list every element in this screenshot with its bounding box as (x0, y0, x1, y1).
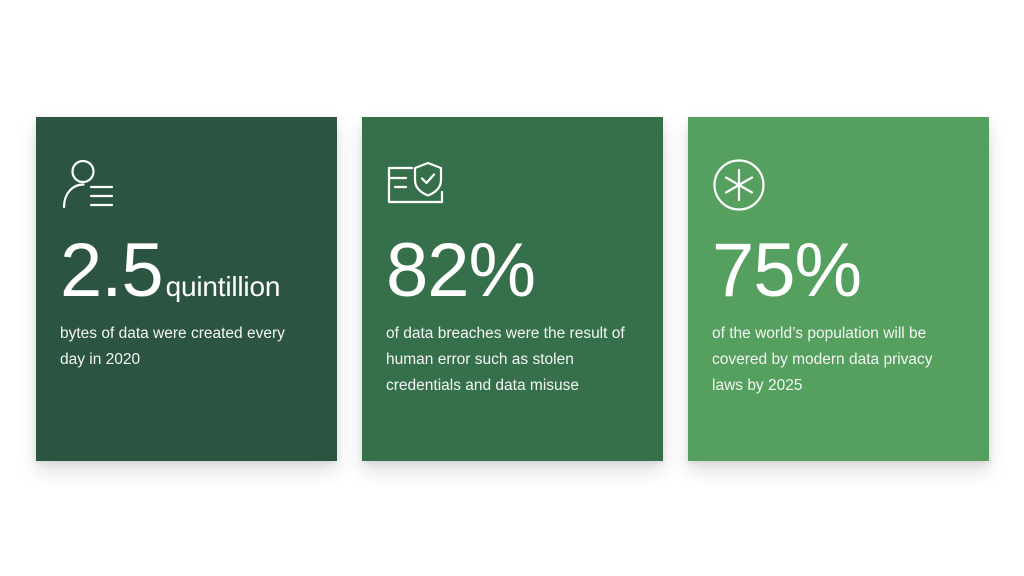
stat-card-privacy-laws: 75% of the world’s population will be co… (688, 117, 989, 461)
stat-card-quintillion-bytes: 2.5 quintillion bytes of data were creat… (36, 117, 337, 461)
asterisk-circle-icon (712, 157, 965, 213)
user-details-icon (60, 157, 313, 213)
stat-description: of the world’s population will be covere… (712, 321, 965, 399)
stat-figure-suffix: quintillion (166, 271, 281, 303)
card-shield-check-icon (386, 157, 639, 213)
page-root: 2.5 quintillion bytes of data were creat… (0, 0, 1024, 576)
stat-figure: 75% (712, 235, 861, 307)
stat-figure: 2.5 (60, 235, 163, 307)
stat-card-group: 2.5 quintillion bytes of data were creat… (36, 117, 989, 461)
stat-description: bytes of data were created every day in … (60, 321, 313, 373)
stat-figure: 82% (386, 235, 535, 307)
stat-card-data-breaches: 82% of data breaches were the result of … (362, 117, 663, 461)
stat-figure-row: 82% (386, 235, 639, 307)
stat-figure-row: 2.5 quintillion (60, 235, 313, 307)
stat-description: of data breaches were the result of huma… (386, 321, 639, 399)
stat-figure-row: 75% (712, 235, 965, 307)
